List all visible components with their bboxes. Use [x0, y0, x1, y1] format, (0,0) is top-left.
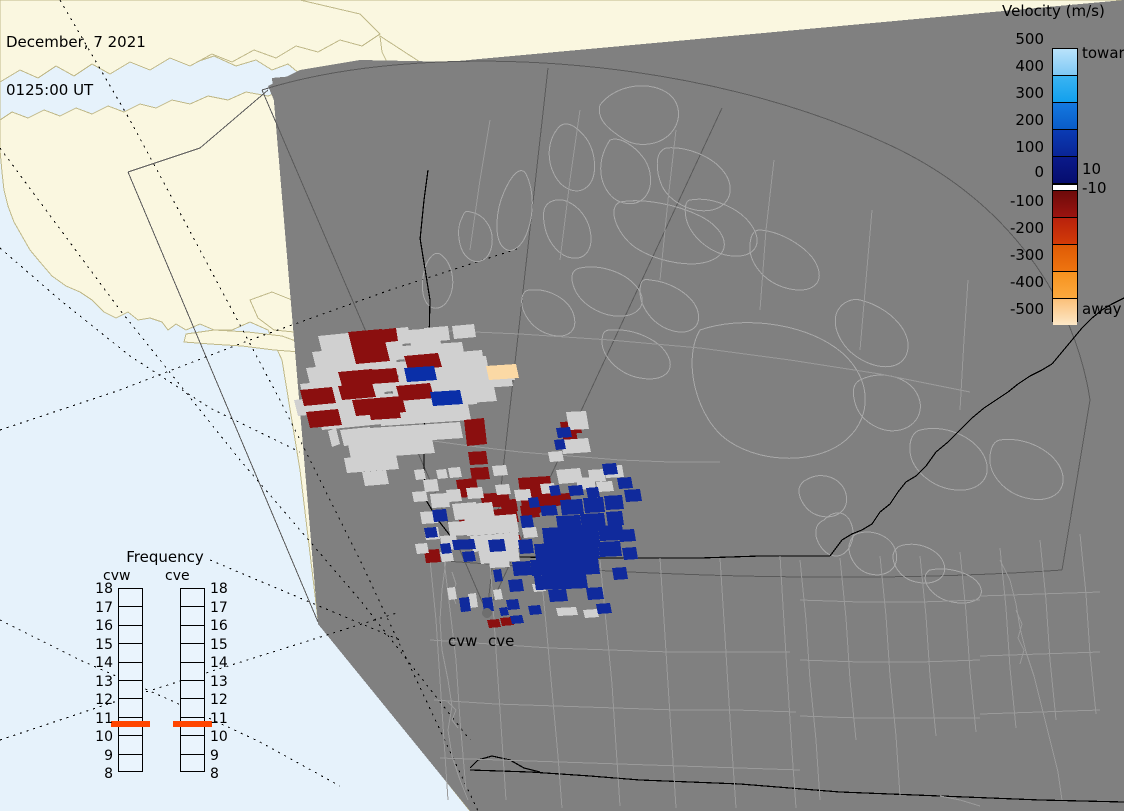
cbar-tick-m400: -400: [1000, 273, 1044, 291]
frequency-title: Frequency: [85, 548, 245, 566]
cbar-seg-100-10: [1053, 157, 1077, 184]
frequency-cell: [181, 663, 204, 681]
frequency-tick-left: 11: [89, 711, 113, 727]
cbar-tick-200: 200: [1000, 111, 1044, 129]
frequency-tick-right: 12: [210, 692, 234, 708]
frequency-cell: [181, 699, 204, 717]
cbar-tick-m100: -100: [1000, 192, 1044, 210]
cbar-tick-m500: -500: [1000, 300, 1044, 318]
radar-origin-marker: [482, 608, 492, 618]
frequency-marker-cvw: [111, 721, 150, 727]
frequency-tick-right: 18: [210, 581, 234, 597]
cbar-seg-400-500: [1053, 299, 1077, 325]
cbar-inner-neg-label: -10: [1082, 179, 1107, 197]
frequency-tick-right: 17: [210, 600, 234, 616]
colorbar-title: Velocity (m/s): [1002, 2, 1105, 20]
frequency-bar-cve: [180, 588, 205, 772]
frequency-tick-right: 10: [210, 729, 234, 745]
frequency-cell: [181, 644, 204, 662]
cbar-toward-label: toward: [1082, 44, 1124, 62]
frequency-tick-right: 15: [210, 637, 234, 653]
frequency-tick-right: 13: [210, 674, 234, 690]
frequency-tick-left: 9: [89, 748, 113, 764]
frequency-tick-right: 14: [210, 655, 234, 671]
cbar-seg-300-400: [1053, 272, 1077, 299]
frequency-legend: Frequency cvw cve: [85, 548, 245, 788]
cbar-seg-400-300: [1053, 76, 1077, 103]
cbar-seg-100-200: [1053, 218, 1077, 245]
frequency-cell: [119, 755, 142, 773]
frequency-cell: [181, 681, 204, 699]
frequency-tick-right: 11: [210, 711, 234, 727]
frequency-tick-right: 16: [210, 618, 234, 634]
cbar-seg-500-400: [1053, 49, 1077, 76]
frequency-tick-left: 13: [89, 674, 113, 690]
cbar-tick-0: 0: [1000, 163, 1044, 181]
time-label: 0125:00 UT: [6, 82, 146, 98]
cbar-tick-400: 400: [1000, 57, 1044, 75]
cbar-tick-500: 500: [1000, 30, 1044, 48]
frequency-tick-left: 14: [89, 655, 113, 671]
frequency-bar-cvw: [118, 588, 143, 772]
cbar-seg-200-100: [1053, 130, 1077, 157]
frequency-tick-right: 9: [210, 748, 234, 764]
frequency-tick-left: 12: [89, 692, 113, 708]
frequency-tick-right: 8: [210, 766, 234, 782]
frequency-cell: [119, 644, 142, 662]
frequency-cell: [119, 663, 142, 681]
frequency-marker-cve: [173, 721, 212, 727]
cbar-seg-300-200: [1053, 103, 1077, 130]
frequency-tick-left: 10: [89, 729, 113, 745]
radar-map-page: December, 7 2021 0125:00 UT cvw cve Velo…: [0, 0, 1124, 811]
frequency-tick-left: 15: [89, 637, 113, 653]
cbar-tick-m300: -300: [1000, 246, 1044, 264]
cbar-seg-200-300: [1053, 245, 1077, 272]
frequency-cell: [181, 736, 204, 754]
cbar-seg-zero: [1053, 184, 1077, 191]
station-label-cve: cve: [488, 632, 514, 650]
frequency-cell: [119, 699, 142, 717]
station-label-cvw: cvw: [448, 632, 477, 650]
frequency-tick-left: 17: [89, 600, 113, 616]
cbar-inner-pos-label: 10: [1082, 160, 1101, 178]
frequency-cell: [181, 626, 204, 644]
cbar-seg-10-100: [1053, 191, 1077, 218]
frequency-cell: [181, 607, 204, 625]
frequency-cell: [119, 736, 142, 754]
cells-away-large: [486, 364, 519, 380]
frequency-cell: [119, 681, 142, 699]
frequency-cell: [119, 607, 142, 625]
velocity-colorbar: [1052, 48, 1078, 322]
date-label: December, 7 2021: [6, 34, 146, 50]
frequency-tick-left: 8: [89, 766, 113, 782]
frequency-cell: [119, 589, 142, 607]
timestamp-block: December, 7 2021 0125:00 UT: [6, 2, 146, 130]
cbar-away-label: away: [1082, 300, 1122, 318]
frequency-cell: [181, 589, 204, 607]
cbar-tick-100: 100: [1000, 138, 1044, 156]
cbar-tick-300: 300: [1000, 84, 1044, 102]
frequency-tick-left: 18: [89, 581, 113, 597]
frequency-tick-left: 16: [89, 618, 113, 634]
cbar-tick-m200: -200: [1000, 219, 1044, 237]
frequency-cell: [119, 626, 142, 644]
frequency-cell: [181, 755, 204, 773]
frequency-column-header-cve: cve: [165, 568, 190, 584]
